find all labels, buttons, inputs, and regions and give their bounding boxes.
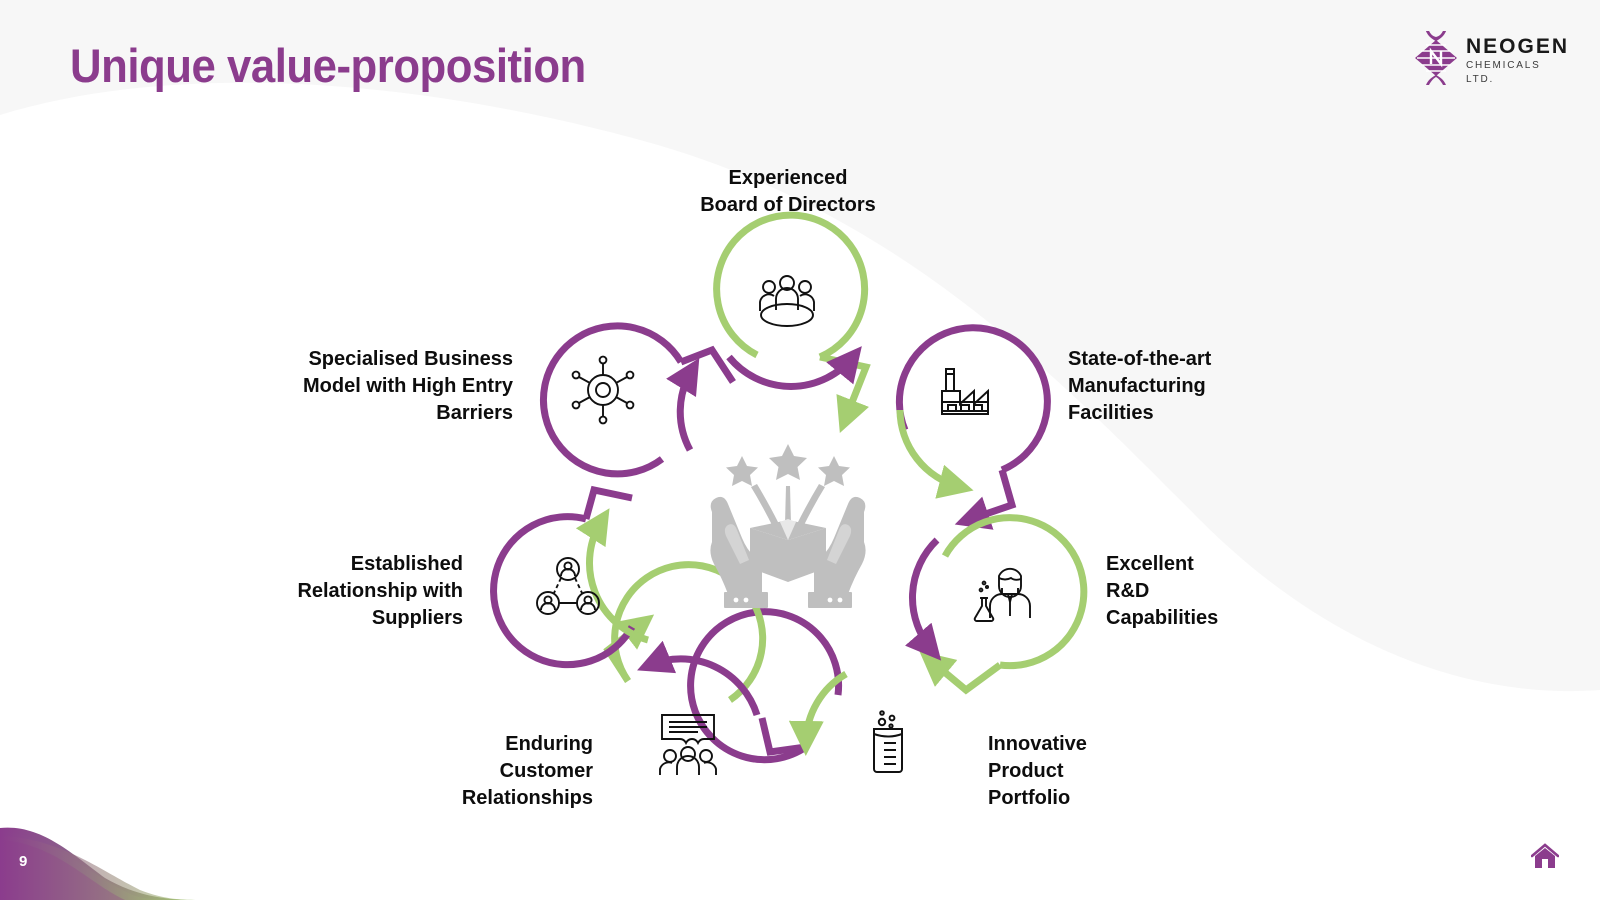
slide-canvas: Unique value-proposition <box>0 0 1600 900</box>
connector-rnd-to-portfolio <box>930 660 1000 690</box>
node-label-suppliers: Established Relationship with Suppliers <box>163 551 463 632</box>
connector-manufacturing-to-rnd <box>968 470 1012 520</box>
board-of-directors-icon <box>749 263 825 339</box>
inner-arrow-rnd <box>912 540 937 650</box>
node-label-business-model: Specialised Business Model with High Ent… <box>213 346 513 427</box>
factory-icon <box>930 355 1006 431</box>
scientist-flask-icon <box>966 554 1042 630</box>
node-label-board: Experienced Board of Directors <box>588 165 988 219</box>
hands-holding-box-with-stars-icon <box>702 440 874 620</box>
node-label-customers: Enduring Customer Relationships <box>293 731 593 812</box>
node-label-portfolio: Innovative Product Portfolio <box>988 731 1288 812</box>
page-number: 9 <box>19 853 27 870</box>
connector-portfolio-to-customers <box>762 718 806 752</box>
inner-arrow-business-model <box>680 370 692 450</box>
node-label-rnd: Excellent R&D Capabilities <box>1106 551 1406 632</box>
hub-nodes-icon <box>565 352 641 428</box>
beaker-bubbles-icon <box>850 705 926 781</box>
people-network-icon <box>530 550 606 626</box>
node-label-manufacturing: State-of-the-art Manufacturing Facilitie… <box>1068 346 1368 427</box>
speech-bubble-people-icon <box>650 705 726 781</box>
home-icon[interactable] <box>1531 843 1559 869</box>
connector-suppliers-to-business-model <box>586 490 632 519</box>
